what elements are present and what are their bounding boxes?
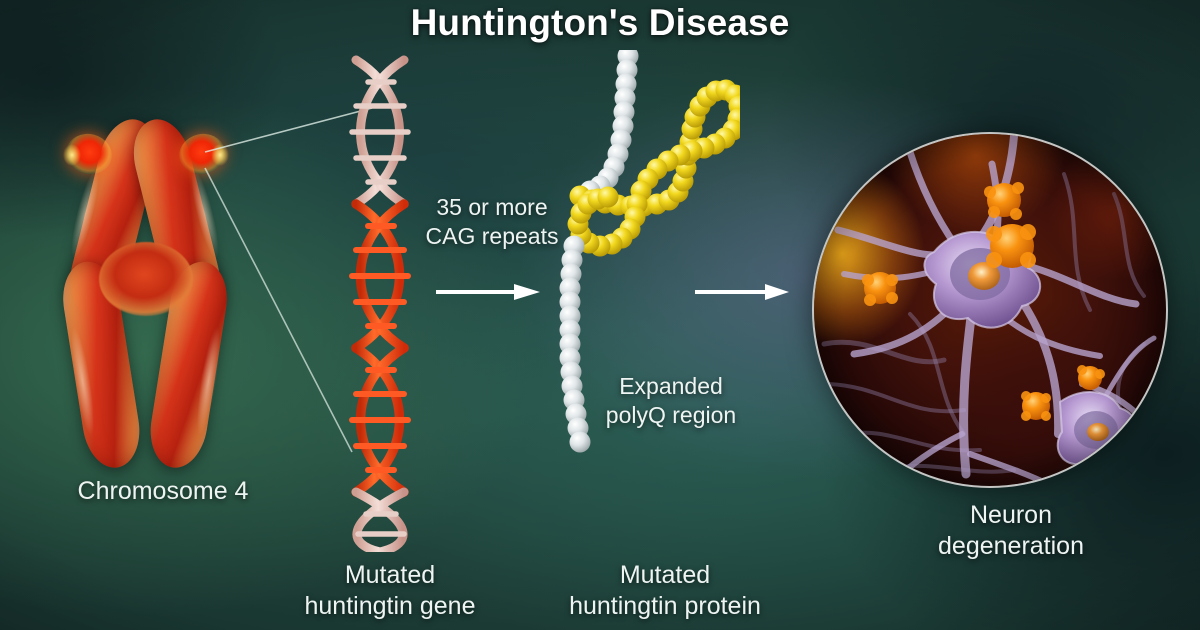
right-arrow-icon-gene-to-protein: [436, 272, 542, 312]
label-chromosome: Chromosome 4: [18, 476, 308, 507]
page-title: Huntington's Disease: [0, 2, 1200, 44]
label-mutated-huntingtin-gene: Mutated huntingtin gene: [245, 560, 535, 622]
label-mutated-huntingtin-protein: Mutated huntingtin protein: [510, 560, 820, 622]
label-cag-repeats: 35 or more CAG repeats: [398, 193, 586, 251]
right-arrow-icon-protein-to-neuron: [695, 272, 791, 312]
illustration-canvas: Huntington's Disease Chromosome 4 35 or …: [0, 0, 1200, 630]
label-neuron-degeneration: Neuron degeneration: [880, 500, 1142, 562]
label-polyq-region: Expanded polyQ region: [576, 372, 766, 430]
